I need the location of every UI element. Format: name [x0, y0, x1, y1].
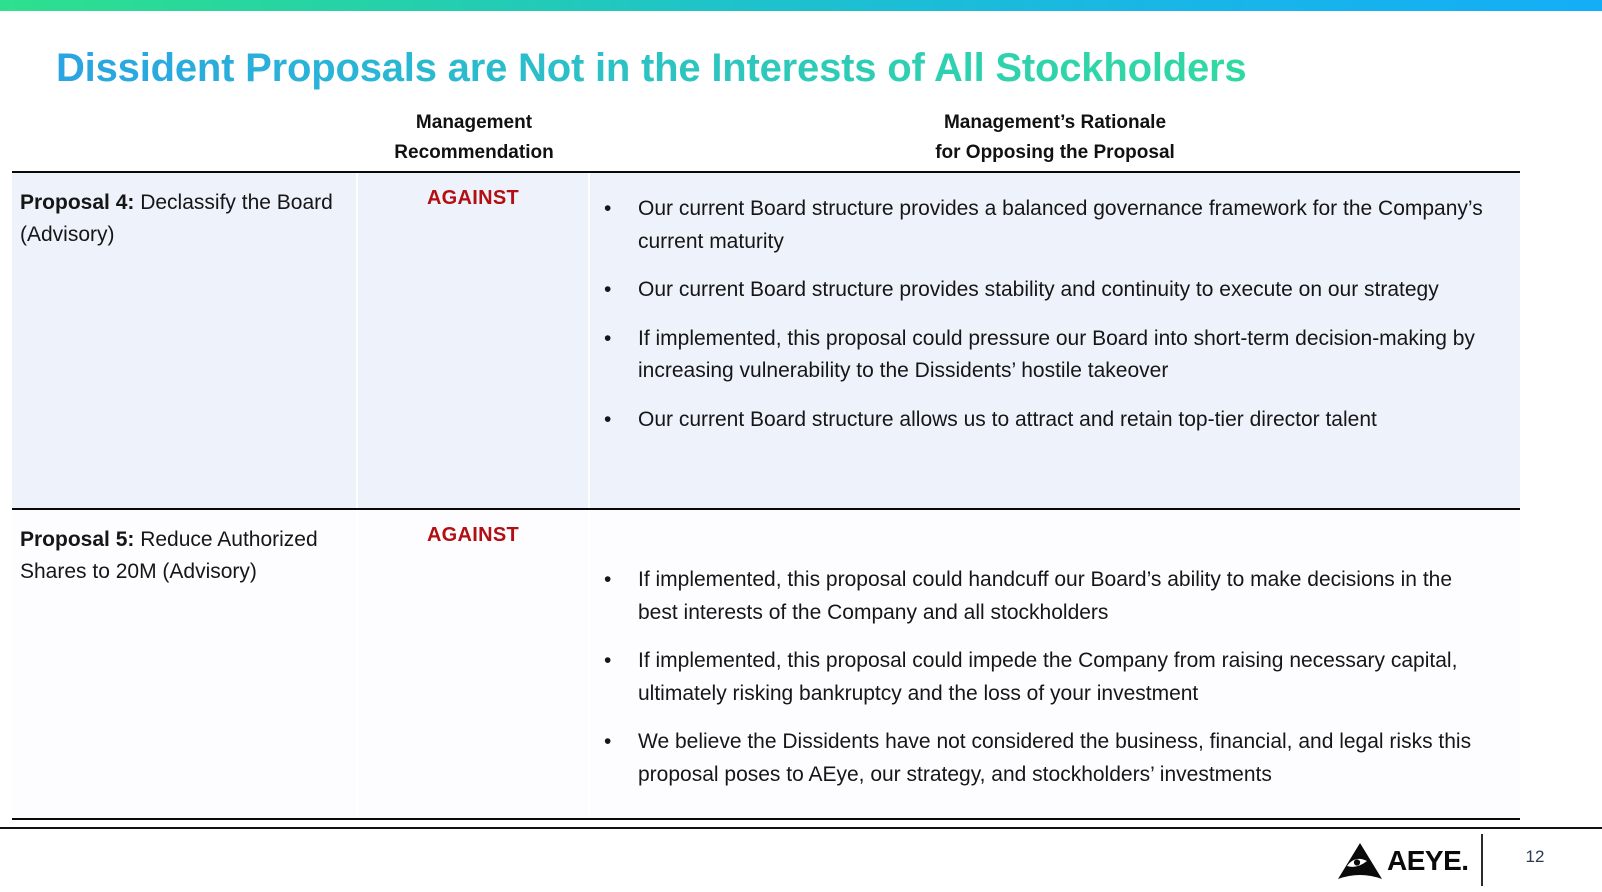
rationale-cell: •Our current Board structure provides a …	[590, 173, 1520, 508]
bullet-dot-icon: •	[604, 645, 611, 678]
bullet-text: We believe the Dissidents have not consi…	[638, 730, 1471, 786]
recommendation-cell: AGAINST	[358, 510, 590, 818]
bullet-text: Our current Board structure provides sta…	[638, 278, 1439, 301]
list-item: •If implemented, this proposal could imp…	[596, 645, 1496, 710]
list-item: •If implemented, this proposal could pre…	[596, 323, 1496, 388]
rationale-bullet-list: •If implemented, this proposal could han…	[596, 564, 1496, 791]
bullet-dot-icon: •	[604, 726, 611, 759]
proposals-table: Proposal 4: Declassify the Board (Adviso…	[12, 171, 1520, 820]
list-item: •If implemented, this proposal could han…	[596, 564, 1496, 629]
list-item: •Our current Board structure provides st…	[596, 274, 1496, 307]
page-title: Dissident Proposals are Not in the Inter…	[56, 46, 1246, 91]
header-rationale-line1: Management’s Rationale	[590, 108, 1520, 138]
footer-vertical-divider	[1481, 834, 1483, 886]
bullet-text: Our current Board structure provides a b…	[638, 197, 1483, 253]
table-row: Proposal 5: Reduce Authorized Shares to …	[12, 510, 1520, 820]
recommendation-cell: AGAINST	[358, 173, 590, 508]
proposal-cell: Proposal 4: Declassify the Board (Adviso…	[12, 173, 358, 508]
rationale-bullet-list: •Our current Board structure provides a …	[596, 193, 1496, 436]
bullet-dot-icon: •	[604, 274, 611, 307]
bullet-dot-icon: •	[604, 193, 611, 226]
bullet-dot-icon: •	[604, 404, 611, 437]
bullet-text: If implemented, this proposal could hand…	[638, 568, 1452, 624]
proposal-label: Proposal 4:	[20, 191, 134, 214]
list-item: •Our current Board structure allows us t…	[596, 404, 1496, 437]
proposal-label: Proposal 5:	[20, 528, 134, 551]
header-management-recommendation: Management Recommendation	[358, 108, 590, 168]
top-accent-bar	[0, 0, 1602, 11]
header-management-rationale: Management’s Rationale for Opposing the …	[590, 108, 1520, 168]
list-item: •We believe the Dissidents have not cons…	[596, 726, 1496, 791]
slide-footer: AEYE. 12	[0, 829, 1602, 892]
table-column-headers: Management Recommendation Management’s R…	[12, 108, 1520, 170]
aeye-logo: AEYE.	[1337, 841, 1469, 881]
bullet-text: If implemented, this proposal could pres…	[638, 327, 1475, 383]
header-recommendation-line1: Management	[358, 108, 590, 138]
bullet-text: If implemented, this proposal could impe…	[638, 649, 1457, 705]
table-row: Proposal 4: Declassify the Board (Adviso…	[12, 173, 1520, 510]
header-recommendation-line2: Recommendation	[358, 138, 590, 168]
list-item: •Our current Board structure provides a …	[596, 193, 1496, 258]
bullet-dot-icon: •	[604, 323, 611, 356]
header-rationale-line2: for Opposing the Proposal	[590, 138, 1520, 168]
page-number: 12	[1515, 847, 1555, 867]
rationale-cell: •If implemented, this proposal could han…	[590, 510, 1520, 818]
aeye-logo-text: AEYE.	[1387, 847, 1469, 875]
bullet-dot-icon: •	[604, 564, 611, 597]
proposal-cell: Proposal 5: Reduce Authorized Shares to …	[12, 510, 358, 818]
bullet-text: Our current Board structure allows us to…	[638, 408, 1377, 431]
aeye-triangle-eye-icon	[1337, 841, 1383, 881]
